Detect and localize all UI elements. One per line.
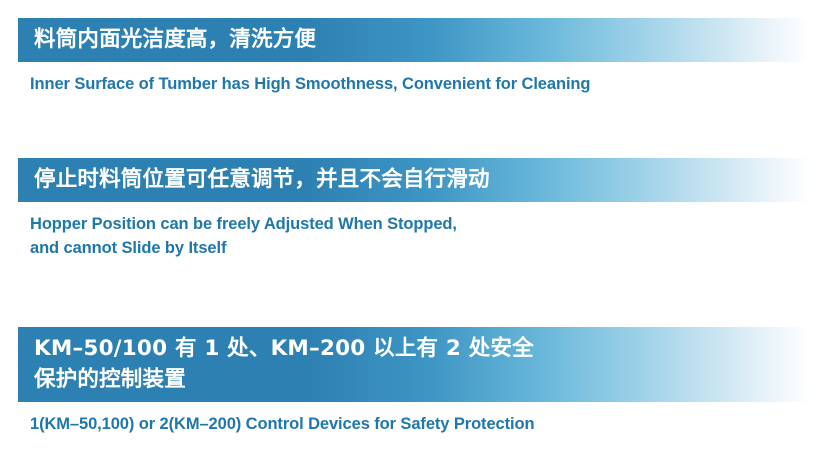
feature-block-1: 料筒内面光洁度高，清洗方便 Inner Surface of Tumber ha… <box>0 18 818 97</box>
feature-headline-3: KM–50/100 有 1 处、KM–200 以上有 2 处安全 保护的控制装置 <box>34 333 810 395</box>
feature-headline-2: 停止时料筒位置可任意调节，并且不会自行滑动 <box>34 164 810 195</box>
feature-banner-3: KM–50/100 有 1 处、KM–200 以上有 2 处安全 保护的控制装置 <box>18 327 810 402</box>
feature-block-2: 停止时料筒位置可任意调节，并且不会自行滑动 Hopper Position ca… <box>0 158 818 260</box>
feature-block-3: KM–50/100 有 1 处、KM–200 以上有 2 处安全 保护的控制装置… <box>0 327 818 437</box>
feature-list-page: 料筒内面光洁度高，清洗方便 Inner Surface of Tumber ha… <box>0 0 818 462</box>
feature-banner-2: 停止时料筒位置可任意调节，并且不会自行滑动 <box>18 158 810 202</box>
feature-banner-1: 料筒内面光洁度高，清洗方便 <box>18 18 810 62</box>
feature-subtitle-1: Inner Surface of Tumber has High Smoothn… <box>30 73 818 96</box>
feature-subtitle-3: 1(KM–50,100) or 2(KM–200) Control Device… <box>30 413 818 436</box>
feature-subtitle-2: Hopper Position can be freely Adjusted W… <box>30 213 818 260</box>
feature-headline-1: 料筒内面光洁度高，清洗方便 <box>34 24 810 55</box>
